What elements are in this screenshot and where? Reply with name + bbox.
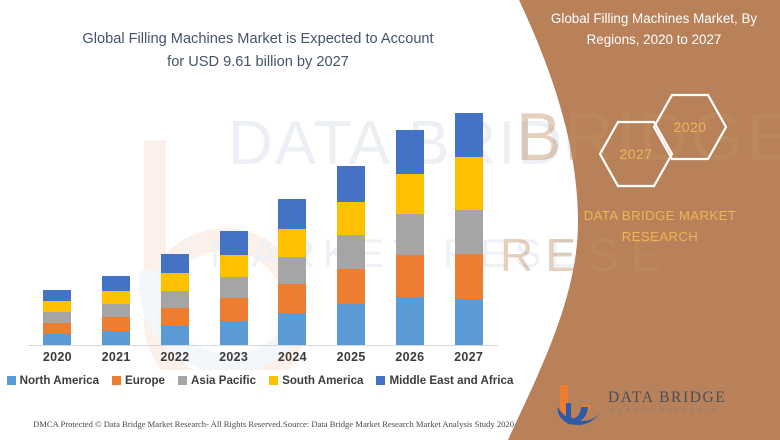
bar-segment [161, 273, 189, 290]
bar-segment [278, 257, 306, 284]
bar-segment [102, 276, 130, 291]
x-tick-label-2024: 2024 [264, 350, 320, 364]
chart-x-axis-line [28, 345, 498, 346]
x-tick-label-2022: 2022 [147, 350, 203, 364]
bar-segment [220, 298, 248, 321]
legend-swatch-icon [269, 376, 278, 385]
footer-copyright: DMCA Protected © Data Bridge Market Rese… [33, 419, 283, 429]
legend-label: Asia Pacific [191, 374, 256, 387]
bar-segment [455, 299, 483, 346]
infographic-canvas: DATA BRIDGE MARKET RESEARCH Global Filli… [0, 0, 780, 440]
legend-swatch-icon [112, 376, 121, 385]
legend-label: Middle East and Africa [389, 374, 513, 387]
bar-segment [278, 284, 306, 314]
footer-source: Source: Data Bridge Market Research Mark… [283, 419, 514, 429]
company-logo-subtitle: MARKET RESEARCH [609, 407, 720, 414]
stacked-bar-chart: 20202021202220232024202520262027 [0, 0, 520, 370]
bar-segment [161, 308, 189, 326]
bar-2025 [337, 166, 365, 346]
bar-segment [102, 317, 130, 331]
bar-segment [220, 231, 248, 255]
panel-brand-line-1: DATA BRIDGE MARKET [584, 208, 737, 223]
legend-swatch-icon [178, 376, 187, 385]
bar-segment [102, 331, 130, 346]
bar-segment [220, 255, 248, 277]
legend-item-middle-east-and-africa[interactable]: Middle East and Africa [376, 374, 513, 387]
panel-brand-name: DATA BRIDGE MARKET RESEARCH [560, 205, 760, 247]
x-tick-label-2023: 2023 [206, 350, 262, 364]
bar-segment [455, 157, 483, 211]
legend-label: North America [20, 374, 99, 387]
bar-segment [455, 210, 483, 254]
bar-segment [396, 174, 424, 215]
panel-title-line-1: Global Filling Machines Market, By [551, 11, 757, 26]
legend-label: Europe [125, 374, 165, 387]
company-logo-name: DATA BRIDGE [608, 389, 726, 407]
bar-segment [102, 291, 130, 304]
bar-segment [455, 113, 483, 157]
bar-segment [43, 301, 71, 312]
bar-segment [337, 269, 365, 305]
bar-segment [337, 166, 365, 202]
bar-segment [43, 323, 71, 334]
bar-segment [161, 326, 189, 346]
legend-item-south-america[interactable]: South America [269, 374, 363, 387]
x-tick-label-2027: 2027 [441, 350, 497, 364]
legend-label: South America [282, 374, 363, 387]
bar-segment [278, 229, 306, 257]
bar-2020 [43, 290, 71, 346]
chart-plot-area [28, 100, 498, 346]
legend-item-north-america[interactable]: North America [7, 374, 99, 387]
bar-segment [455, 254, 483, 300]
panel-title-line-2: Regions, 2020 to 2027 [587, 32, 722, 47]
bar-2026 [396, 130, 424, 346]
bar-segment [396, 130, 424, 174]
panel-brand-line-2: RESEARCH [622, 229, 698, 244]
bar-segment [396, 214, 424, 254]
chart-x-tick-labels: 20202021202220232024202520262027 [28, 350, 498, 370]
x-tick-label-2020: 2020 [29, 350, 85, 364]
bar-segment [102, 304, 130, 317]
x-tick-label-2025: 2025 [323, 350, 379, 364]
bar-segment [43, 312, 71, 322]
bar-segment [278, 313, 306, 346]
bar-2024 [278, 199, 306, 346]
legend-item-europe[interactable]: Europe [112, 374, 165, 387]
bar-segment [337, 304, 365, 346]
bar-segment [337, 202, 365, 236]
legend-swatch-icon [7, 376, 16, 385]
bar-segment [278, 199, 306, 229]
x-tick-label-2026: 2026 [382, 350, 438, 364]
hexagon-badge-2027: 2027 [597, 119, 675, 189]
bar-segment [43, 290, 71, 301]
bar-segment [161, 254, 189, 273]
bar-segment [220, 277, 248, 299]
bar-segment [220, 321, 248, 346]
hexagon-badge-2027-label: 2027 [619, 146, 652, 162]
bar-2022 [161, 254, 189, 346]
bar-2023 [220, 231, 248, 346]
bar-segment [337, 235, 365, 268]
bar-2027 [455, 113, 483, 346]
legend-swatch-icon [376, 376, 385, 385]
bar-segment [396, 255, 424, 298]
panel-title: Global Filling Machines Market, By Regio… [536, 8, 772, 51]
bar-2021 [102, 276, 130, 346]
x-tick-label-2021: 2021 [88, 350, 144, 364]
legend-item-asia-pacific[interactable]: Asia Pacific [178, 374, 256, 387]
bar-segment [161, 291, 189, 308]
bar-segment [396, 297, 424, 346]
chart-legend: North AmericaEuropeAsia PacificSouth Ame… [0, 374, 520, 387]
hexagon-badge-2020-label: 2020 [673, 119, 706, 135]
